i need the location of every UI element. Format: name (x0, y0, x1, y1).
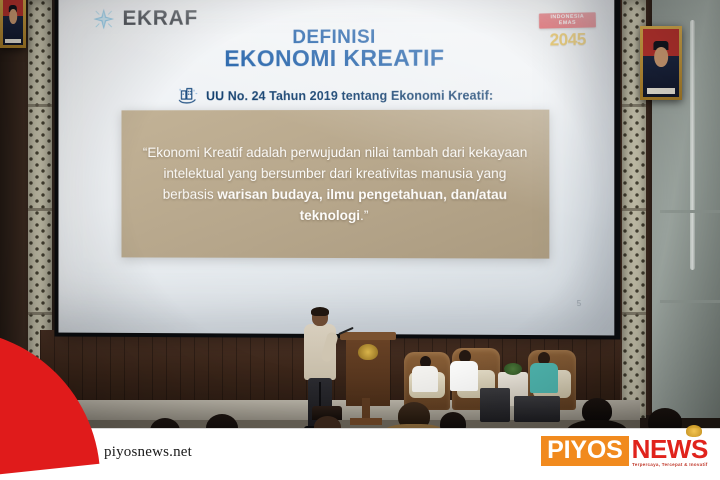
badge-banner-text: INDONESIA EMAS (539, 12, 596, 28)
stage-speaker-box-right (514, 396, 560, 422)
footer-divider (0, 428, 720, 429)
ekraf-wordmark: EKRAF (122, 7, 197, 31)
brand-news-group: NEWS Terpercaya, Tercepat & Inovatif (632, 436, 708, 467)
framed-portrait-right (640, 26, 682, 100)
ekraf-logo-lockup: EKRAF (92, 7, 198, 31)
slide-title-line2: EKONOMI KREATIF (58, 46, 614, 71)
panelist-3-body (530, 363, 558, 393)
podium-top (340, 332, 396, 340)
site-url[interactable]: piyosnews.net (104, 444, 192, 461)
wall-pole (690, 20, 695, 270)
panelist-2-body (450, 361, 478, 391)
quote-part-plain-2: .” (360, 208, 368, 223)
definition-quote-box: “Ekonomi Kreatif adalah perwujudan nilai… (121, 110, 549, 259)
garuda-emblem-icon (358, 344, 378, 360)
screenshot-root: EKRAF INDONESIA EMAS 2045 DEFINISI EKONO… (0, 0, 720, 480)
footer-bar: piyosnews.net PIYOS NEWS Terpercaya, Ter… (0, 428, 720, 480)
podium-base (350, 418, 382, 425)
stage-speaker-box-left (480, 388, 510, 422)
slide-title: DEFINISI EKONOMI KREATIF (58, 27, 614, 72)
slide-number: 5 (577, 299, 582, 308)
law-reference-text: UU No. 24 Tahun 2019 tentang Ekonomi Kre… (206, 89, 493, 104)
table-plant (504, 363, 522, 375)
ekraf-star-logo (92, 7, 116, 31)
brand-piyos-text: PIYOS (541, 436, 628, 466)
law-reference-row: UU No. 24 Tahun 2019 tentang Ekonomi Kre… (58, 85, 614, 106)
panelist-1-body (412, 366, 438, 392)
brand-news-text: NEWS (632, 436, 708, 463)
definition-quote-text: “Ekonomi Kreatif adalah perwujudan nilai… (139, 142, 531, 227)
projection-screen: EKRAF INDONESIA EMAS 2045 DEFINISI EKONO… (58, 0, 614, 335)
buildings-in-hand-icon (176, 86, 198, 106)
brand-emblem-icon (686, 425, 702, 437)
brand-tagline: Terpercaya, Tercepat & Inovatif (632, 462, 708, 467)
framed-portrait-left (0, 0, 26, 48)
piyosnews-logo[interactable]: PIYOS NEWS Terpercaya, Tercepat & Inovat… (541, 436, 708, 472)
wall-rail-upper (660, 210, 720, 213)
wall-rail-lower (660, 300, 720, 303)
podium-stem (362, 398, 370, 420)
